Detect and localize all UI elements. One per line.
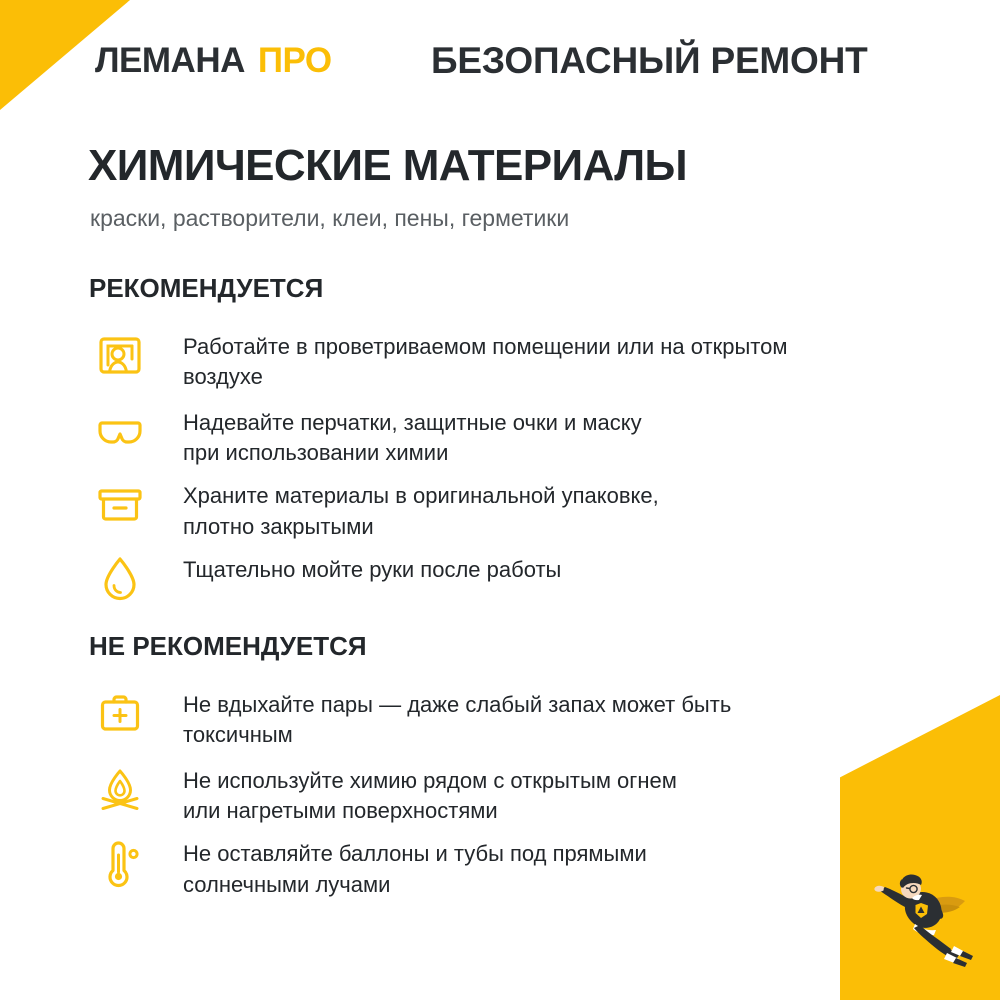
list-item-line1: Не оставляйте баллоны и тубы под прямыми bbox=[183, 841, 647, 866]
ventilated-room-icon bbox=[92, 327, 148, 385]
page-subtitle: краски, растворители, клеи, пены, гермет… bbox=[90, 205, 569, 233]
logo-text-pro: ПРО bbox=[258, 41, 332, 80]
flying-superhero-mascot bbox=[855, 862, 985, 972]
campfire-icon bbox=[92, 761, 148, 819]
list-item: Работайте в проветриваемом помещении или… bbox=[0, 325, 1000, 393]
list-item-line2: или нагретыми поверхностями bbox=[183, 796, 883, 826]
list-item-text: Храните материалы в оригинальной упаковк… bbox=[183, 474, 883, 542]
list-item-text: Надевайте перчатки, защитные очки и маск… bbox=[183, 401, 883, 469]
list-item-line1: Работайте в проветриваемом помещении или… bbox=[183, 334, 787, 359]
list-item-text: Работайте в проветриваемом помещении или… bbox=[183, 325, 883, 393]
water-drop-icon bbox=[92, 550, 148, 608]
infographic-poster: ЛЕМАНАПРО БЕЗОПАСНЫЙ РЕМОНТ ХИМИЧЕСКИЕ М… bbox=[0, 0, 1000, 1000]
list-item-line2: солнечными лучами bbox=[183, 870, 883, 900]
list-item-line1: Тщательно мойте руки после работы bbox=[183, 557, 561, 582]
list-item: Не используйте химию рядом с открытым ог… bbox=[0, 759, 1000, 827]
list-item: Не вдыхайте пары — даже слабый запах мож… bbox=[0, 683, 1000, 751]
section-heading-recommended: РЕКОМЕНДУЕТСЯ bbox=[89, 275, 323, 301]
list-item-line1: Храните материалы в оригинальной упаковк… bbox=[183, 483, 659, 508]
thermometer-sun-icon bbox=[92, 834, 148, 892]
poster-header: ЛЕМАНАПРО БЕЗОПАСНЫЙ РЕМОНТ bbox=[0, 0, 1000, 128]
list-item-line1: Не вдыхайте пары — даже слабый запах мож… bbox=[183, 692, 731, 717]
list-item-line2: при использовании химии bbox=[183, 438, 883, 468]
list-item: Тщательно мойте руки после работы bbox=[0, 548, 1000, 608]
logo-text-lemana: ЛЕМАНА bbox=[95, 41, 245, 80]
list-item-text: Не используйте химию рядом с открытым ог… bbox=[183, 759, 883, 827]
list-item-text: Тщательно мойте руки после работы bbox=[183, 548, 883, 585]
safety-goggles-icon bbox=[92, 403, 148, 461]
section-heading-not-recommended: НЕ РЕКОМЕНДУЕТСЯ bbox=[89, 633, 367, 659]
storage-box-icon bbox=[92, 476, 148, 534]
list-item: Храните материалы в оригинальной упаковк… bbox=[0, 474, 1000, 542]
section-list-recommended: Работайте в проветриваемом помещении или… bbox=[0, 325, 1000, 610]
list-item-line2: плотно закрытыми bbox=[183, 512, 883, 542]
header-title: БЕЗОПАСНЫЙ РЕМОНТ bbox=[431, 42, 868, 79]
list-item: Надевайте перчатки, защитные очки и маск… bbox=[0, 401, 1000, 469]
section-list-not-recommended: Не вдыхайте пары — даже слабый запах мож… bbox=[0, 683, 1000, 902]
brand-logo: ЛЕМАНАПРО bbox=[95, 43, 332, 78]
list-item-line2: воздухе bbox=[183, 362, 883, 392]
list-item: Не оставляйте баллоны и тубы под прямыми… bbox=[0, 832, 1000, 900]
list-item-text: Не вдыхайте пары — даже слабый запах мож… bbox=[183, 683, 883, 751]
list-item-line2: токсичным bbox=[183, 720, 883, 750]
page-title: ХИМИЧЕСКИЕ МАТЕРИАЛЫ bbox=[88, 144, 687, 188]
list-item-line1: Надевайте перчатки, защитные очки и маск… bbox=[183, 410, 642, 435]
list-item-line1: Не используйте химию рядом с открытым ог… bbox=[183, 768, 677, 793]
list-item-text: Не оставляйте баллоны и тубы под прямыми… bbox=[183, 832, 883, 900]
first-aid-kit-icon bbox=[92, 685, 148, 743]
